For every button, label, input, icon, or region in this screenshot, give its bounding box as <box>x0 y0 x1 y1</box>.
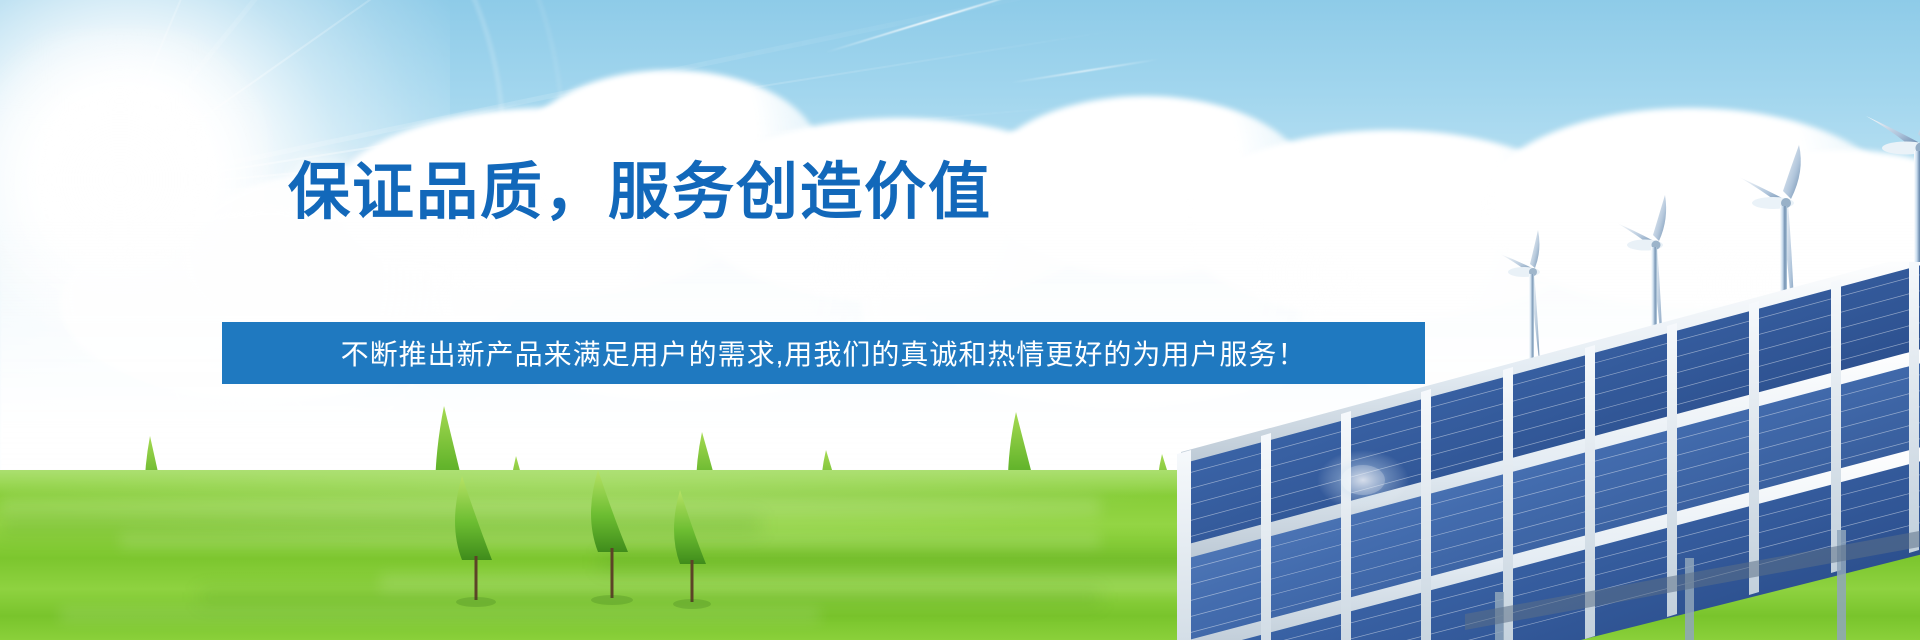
foreground-saplings <box>400 440 780 640</box>
subtitle-bar: 不断推出新产品来满足用户的需求,用我们的真诚和热情更好的为用户服务！ <box>222 322 1425 384</box>
promo-banner: 保证品质，服务创造价值 不断推出新产品来满足用户的需求,用我们的真诚和热情更好的… <box>0 0 1920 640</box>
subtitle-text: 不断推出新产品来满足用户的需求,用我们的真诚和热情更好的为用户服务！ <box>341 333 1307 373</box>
page-title: 保证品质，服务创造价值 <box>0 160 1280 227</box>
grass-horizon-fade <box>0 470 1920 496</box>
